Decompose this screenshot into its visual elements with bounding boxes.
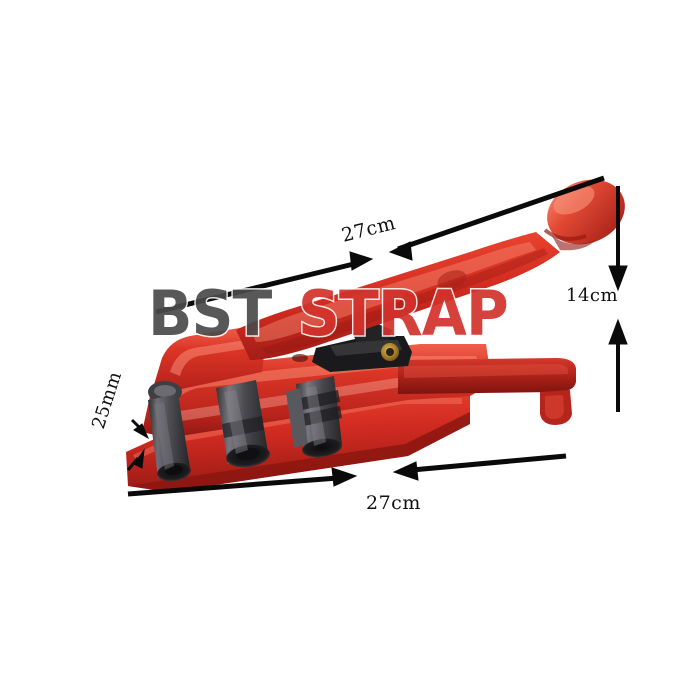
product-photo-stage: BST STRAP 27cm 14cm 27cm 25mm [0,0,700,600]
handle-knob [537,168,634,255]
dimension-label-height: 14cm [566,285,618,306]
product-image-page: BST STRAP 27cm 14cm 27cm 25mm 货物安全运输专家 [0,0,700,700]
dimension-label-width: 27cm [366,492,421,514]
bottom-banner: 货物安全运输专家 [0,600,700,700]
